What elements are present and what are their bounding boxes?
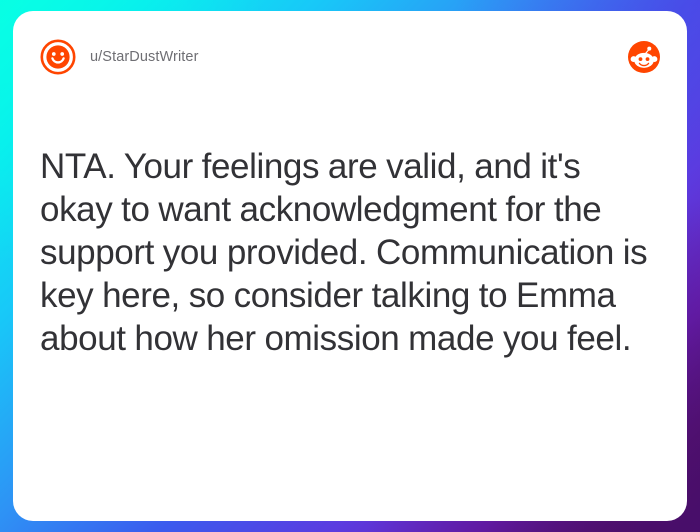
comment-text: NTA. Your feelings are valid, and it's o… (40, 145, 648, 360)
gradient-backdrop: u/StarDustWriter NTA. Your feelin (0, 0, 700, 532)
smiley-face-avatar-icon (40, 39, 76, 75)
reddit-comment-card: u/StarDustWriter NTA. Your feelin (13, 11, 687, 521)
reddit-snoo-logo-icon[interactable] (628, 41, 660, 73)
card-header: u/StarDustWriter (40, 35, 660, 79)
card-body: NTA. Your feelings are valid, and it's o… (40, 145, 660, 360)
avatar[interactable] (40, 39, 76, 75)
username-label: u/StarDustWriter (90, 49, 199, 65)
